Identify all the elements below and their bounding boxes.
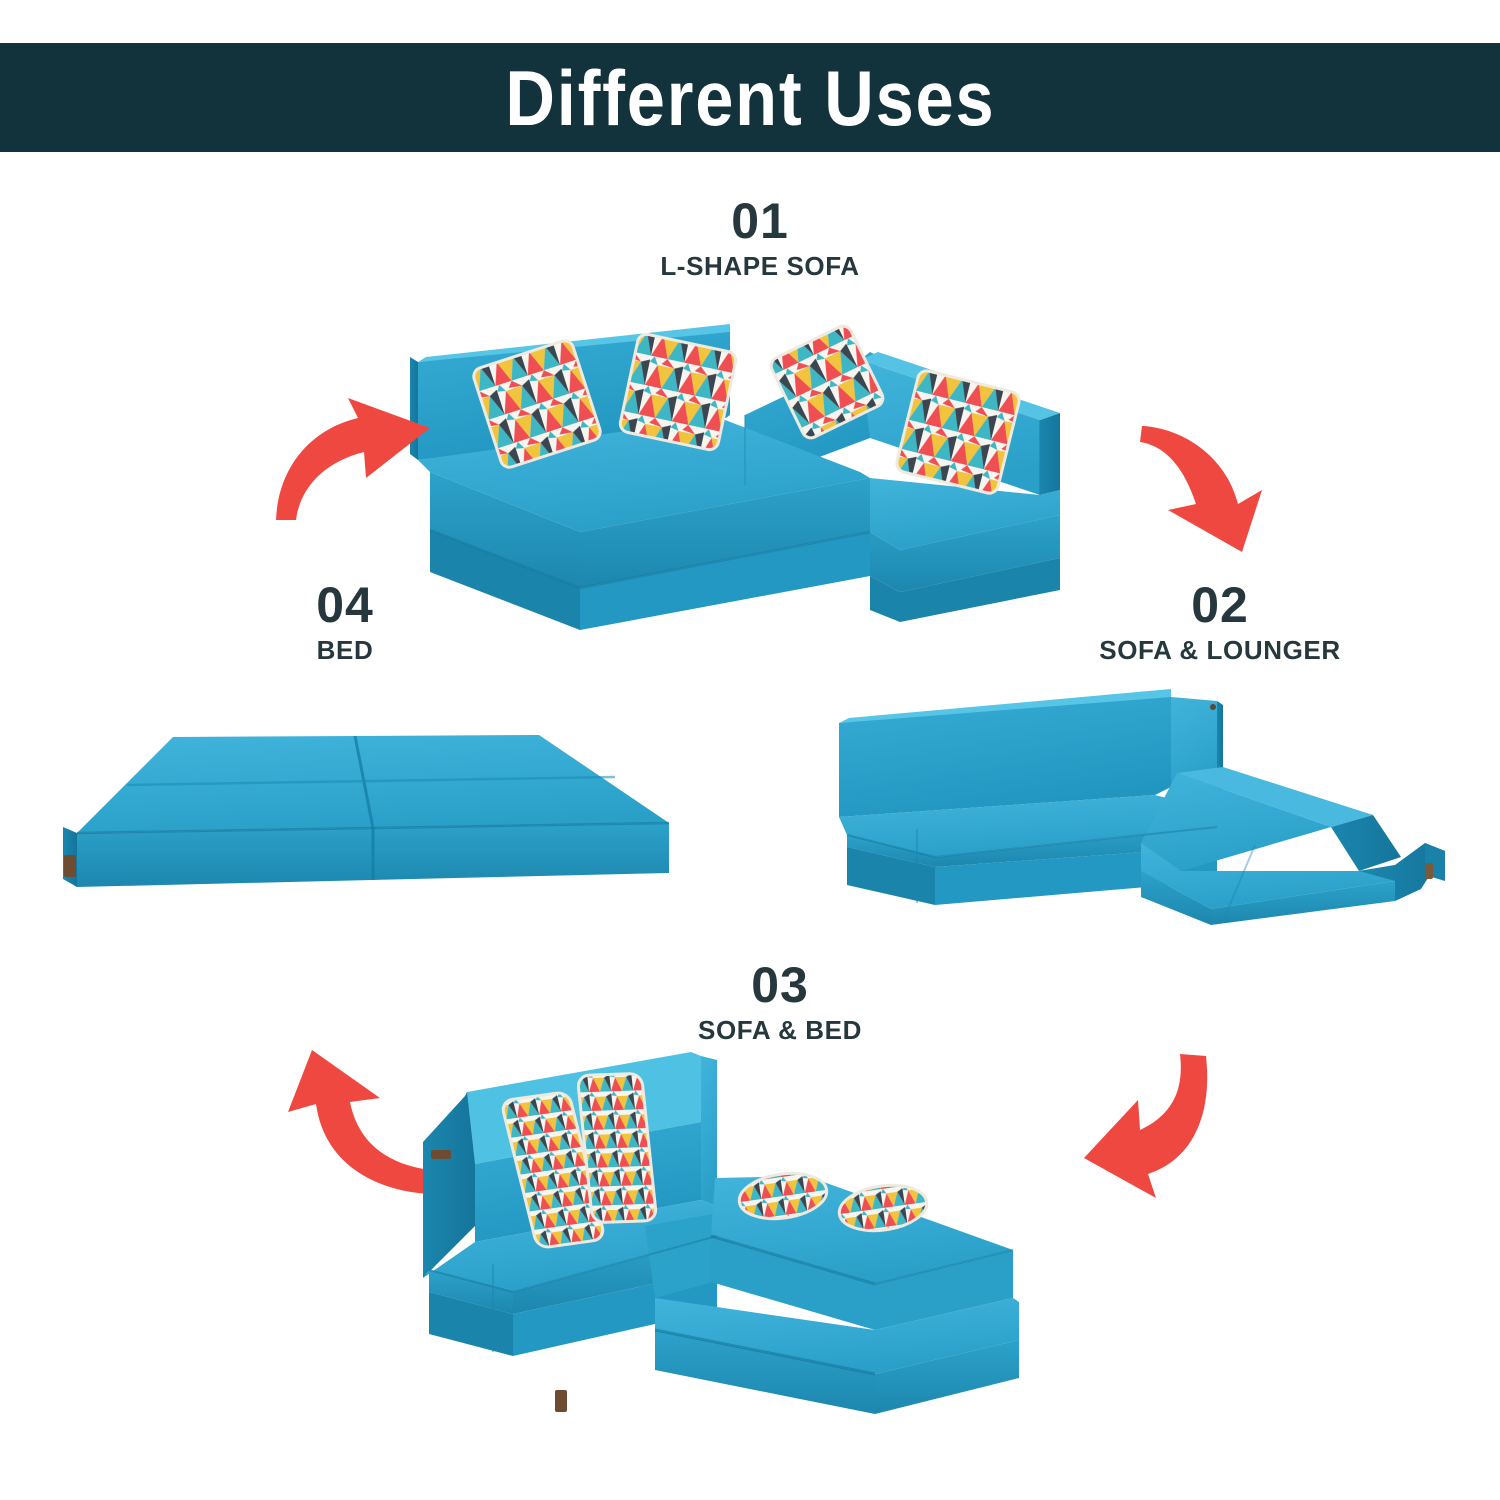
arrow-down-right-icon: [1140, 412, 1300, 552]
step-label-01: 01 L-SHAPE SOFA: [450, 196, 1070, 284]
step-number-03: 03: [530, 960, 1030, 1010]
product-l-shape-sofa: [400, 300, 1090, 630]
step-name-02: SOFA & LOUNGER: [1010, 634, 1430, 668]
product-sofa-lounger: [825, 675, 1450, 925]
header-band: Different Uses: [0, 43, 1500, 152]
step-label-02: 02 SOFA & LOUNGER: [1010, 580, 1430, 668]
product-bed: [55, 715, 675, 915]
step-name-04: BED: [215, 634, 475, 668]
step-number-04: 04: [215, 580, 475, 630]
arrow-down-left-icon: [1082, 1052, 1252, 1212]
product-sofa-bed: [405, 1030, 1055, 1430]
infographic-canvas: Different Uses: [0, 0, 1500, 1500]
page-title: Different Uses: [505, 59, 995, 137]
step-name-01: L-SHAPE SOFA: [450, 250, 1070, 284]
step-number-02: 02: [1010, 580, 1430, 630]
step-label-04: 04 BED: [215, 580, 475, 668]
step-number-01: 01: [450, 196, 1070, 246]
arrow-up-right-icon: [262, 392, 442, 522]
